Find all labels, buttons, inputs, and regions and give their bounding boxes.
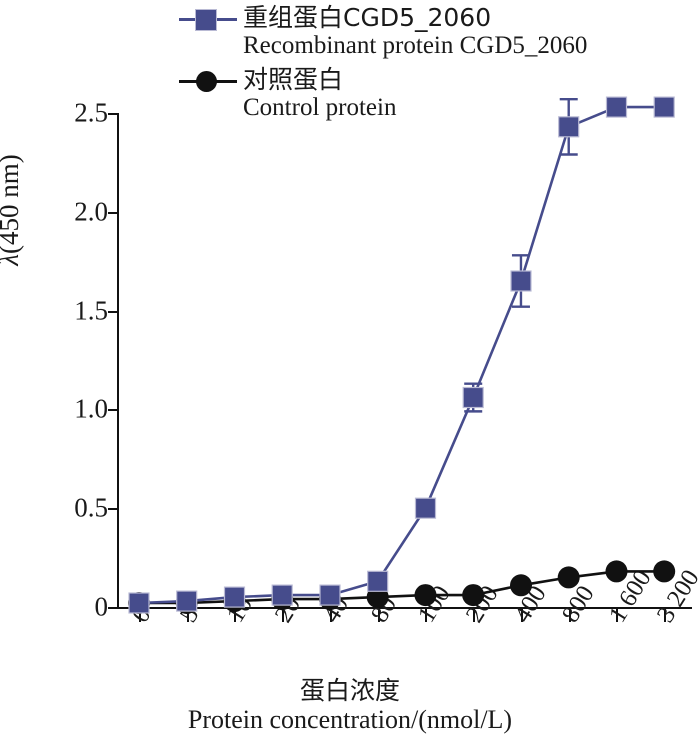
series-control xyxy=(128,560,675,614)
data-point-square-marker xyxy=(225,587,245,607)
data-point-square-marker xyxy=(272,585,292,605)
chart-figure: 重组蛋白CGD5_2060 Recombinant protein CGD5_2… xyxy=(0,0,700,754)
data-point-circle-marker xyxy=(510,574,532,596)
series-recombinant xyxy=(129,97,674,613)
data-point-square-marker xyxy=(177,591,197,611)
data-point-square-marker xyxy=(654,97,674,117)
x-axis-title-cn: 蛋白浓度 xyxy=(0,676,700,705)
series-line xyxy=(139,107,664,603)
data-point-square-marker xyxy=(559,117,579,137)
data-point-square-marker xyxy=(368,571,388,591)
data-point-square-marker xyxy=(129,593,149,613)
data-point-square-marker xyxy=(511,271,531,291)
data-point-circle-marker xyxy=(606,560,628,582)
data-point-square-marker xyxy=(607,97,627,117)
x-axis-title: 蛋白浓度 Protein concentration/(nmol/L) xyxy=(0,676,700,735)
data-point-square-marker xyxy=(320,585,340,605)
data-point-circle-marker xyxy=(462,584,484,606)
data-point-circle-marker xyxy=(415,584,437,606)
data-point-circle-marker xyxy=(653,560,675,582)
x-axis-title-en: Protein concentration/(nmol/L) xyxy=(0,705,700,735)
data-series-layer xyxy=(0,0,700,754)
data-point-square-marker xyxy=(463,388,483,408)
data-point-circle-marker xyxy=(558,566,580,588)
data-point-square-marker xyxy=(416,498,436,518)
